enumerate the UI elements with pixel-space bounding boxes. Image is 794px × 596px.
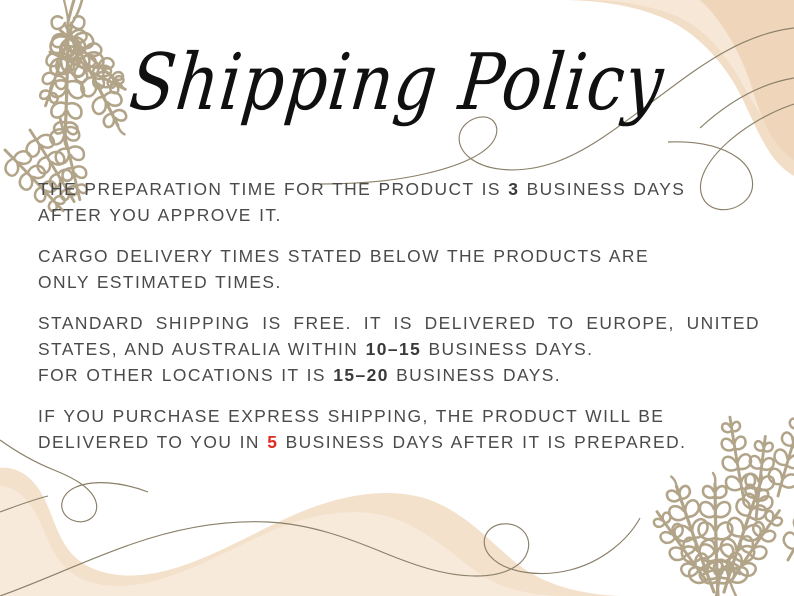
paragraph-express-shipping: IF YOU PURCHASE EXPRESS SHIPPING, THE PR…: [38, 403, 760, 455]
shipping-policy-page: Shipping Policy THE PREPARATION TIME FOR…: [0, 0, 794, 596]
para3-lastline: FOR OTHER LOCATIONS IT IS 15–20 BUSINESS…: [38, 362, 760, 388]
para3-emphasis: 10–15: [366, 339, 422, 359]
para4-lastline-emphasis: 5: [267, 432, 278, 452]
para2-lastline: ONLY ESTIMATED TIMES.: [38, 269, 760, 295]
para4-lastline-lead: DELIVERED TO YOU IN: [38, 432, 267, 452]
paragraph-standard-shipping: STANDARD SHIPPING IS FREE. IT IS DELIVER…: [38, 310, 760, 388]
policy-body: THE PREPARATION TIME FOR THE PRODUCT IS …: [38, 176, 760, 455]
para4-lead: IF YOU PURCHASE EXPRESS SHIPPING, THE PR…: [38, 406, 664, 426]
para3-lastline-lead: FOR OTHER LOCATIONS IT IS: [38, 365, 333, 385]
page-title: Shipping Policy: [0, 42, 794, 124]
paragraph-preparation-time: THE PREPARATION TIME FOR THE PRODUCT IS …: [38, 176, 760, 228]
paragraph-cargo-delivery: CARGO DELIVERY TIMES STATED BELOW THE PR…: [38, 243, 760, 295]
para3-lastline-emphasis: 15–20: [333, 365, 389, 385]
para1-lead: THE PREPARATION TIME FOR THE PRODUCT IS: [38, 179, 508, 199]
para1-tail: BUSINESS DAYS: [519, 179, 685, 199]
para1-lastline: AFTER YOU APPROVE IT.: [38, 202, 760, 228]
para1-emphasis: 3: [508, 179, 519, 199]
para4-lastline-tail: BUSINESS DAYS AFTER IT IS PREPARED.: [278, 432, 686, 452]
para2-lead: CARGO DELIVERY TIMES STATED BELOW THE PR…: [38, 246, 649, 266]
para3-tail: BUSINESS DAYS.: [421, 339, 593, 359]
para3-lastline-tail: BUSINESS DAYS.: [389, 365, 561, 385]
para4-lastline: DELIVERED TO YOU IN 5 BUSINESS DAYS AFTE…: [38, 429, 760, 455]
document-content: Shipping Policy THE PREPARATION TIME FOR…: [0, 0, 794, 596]
